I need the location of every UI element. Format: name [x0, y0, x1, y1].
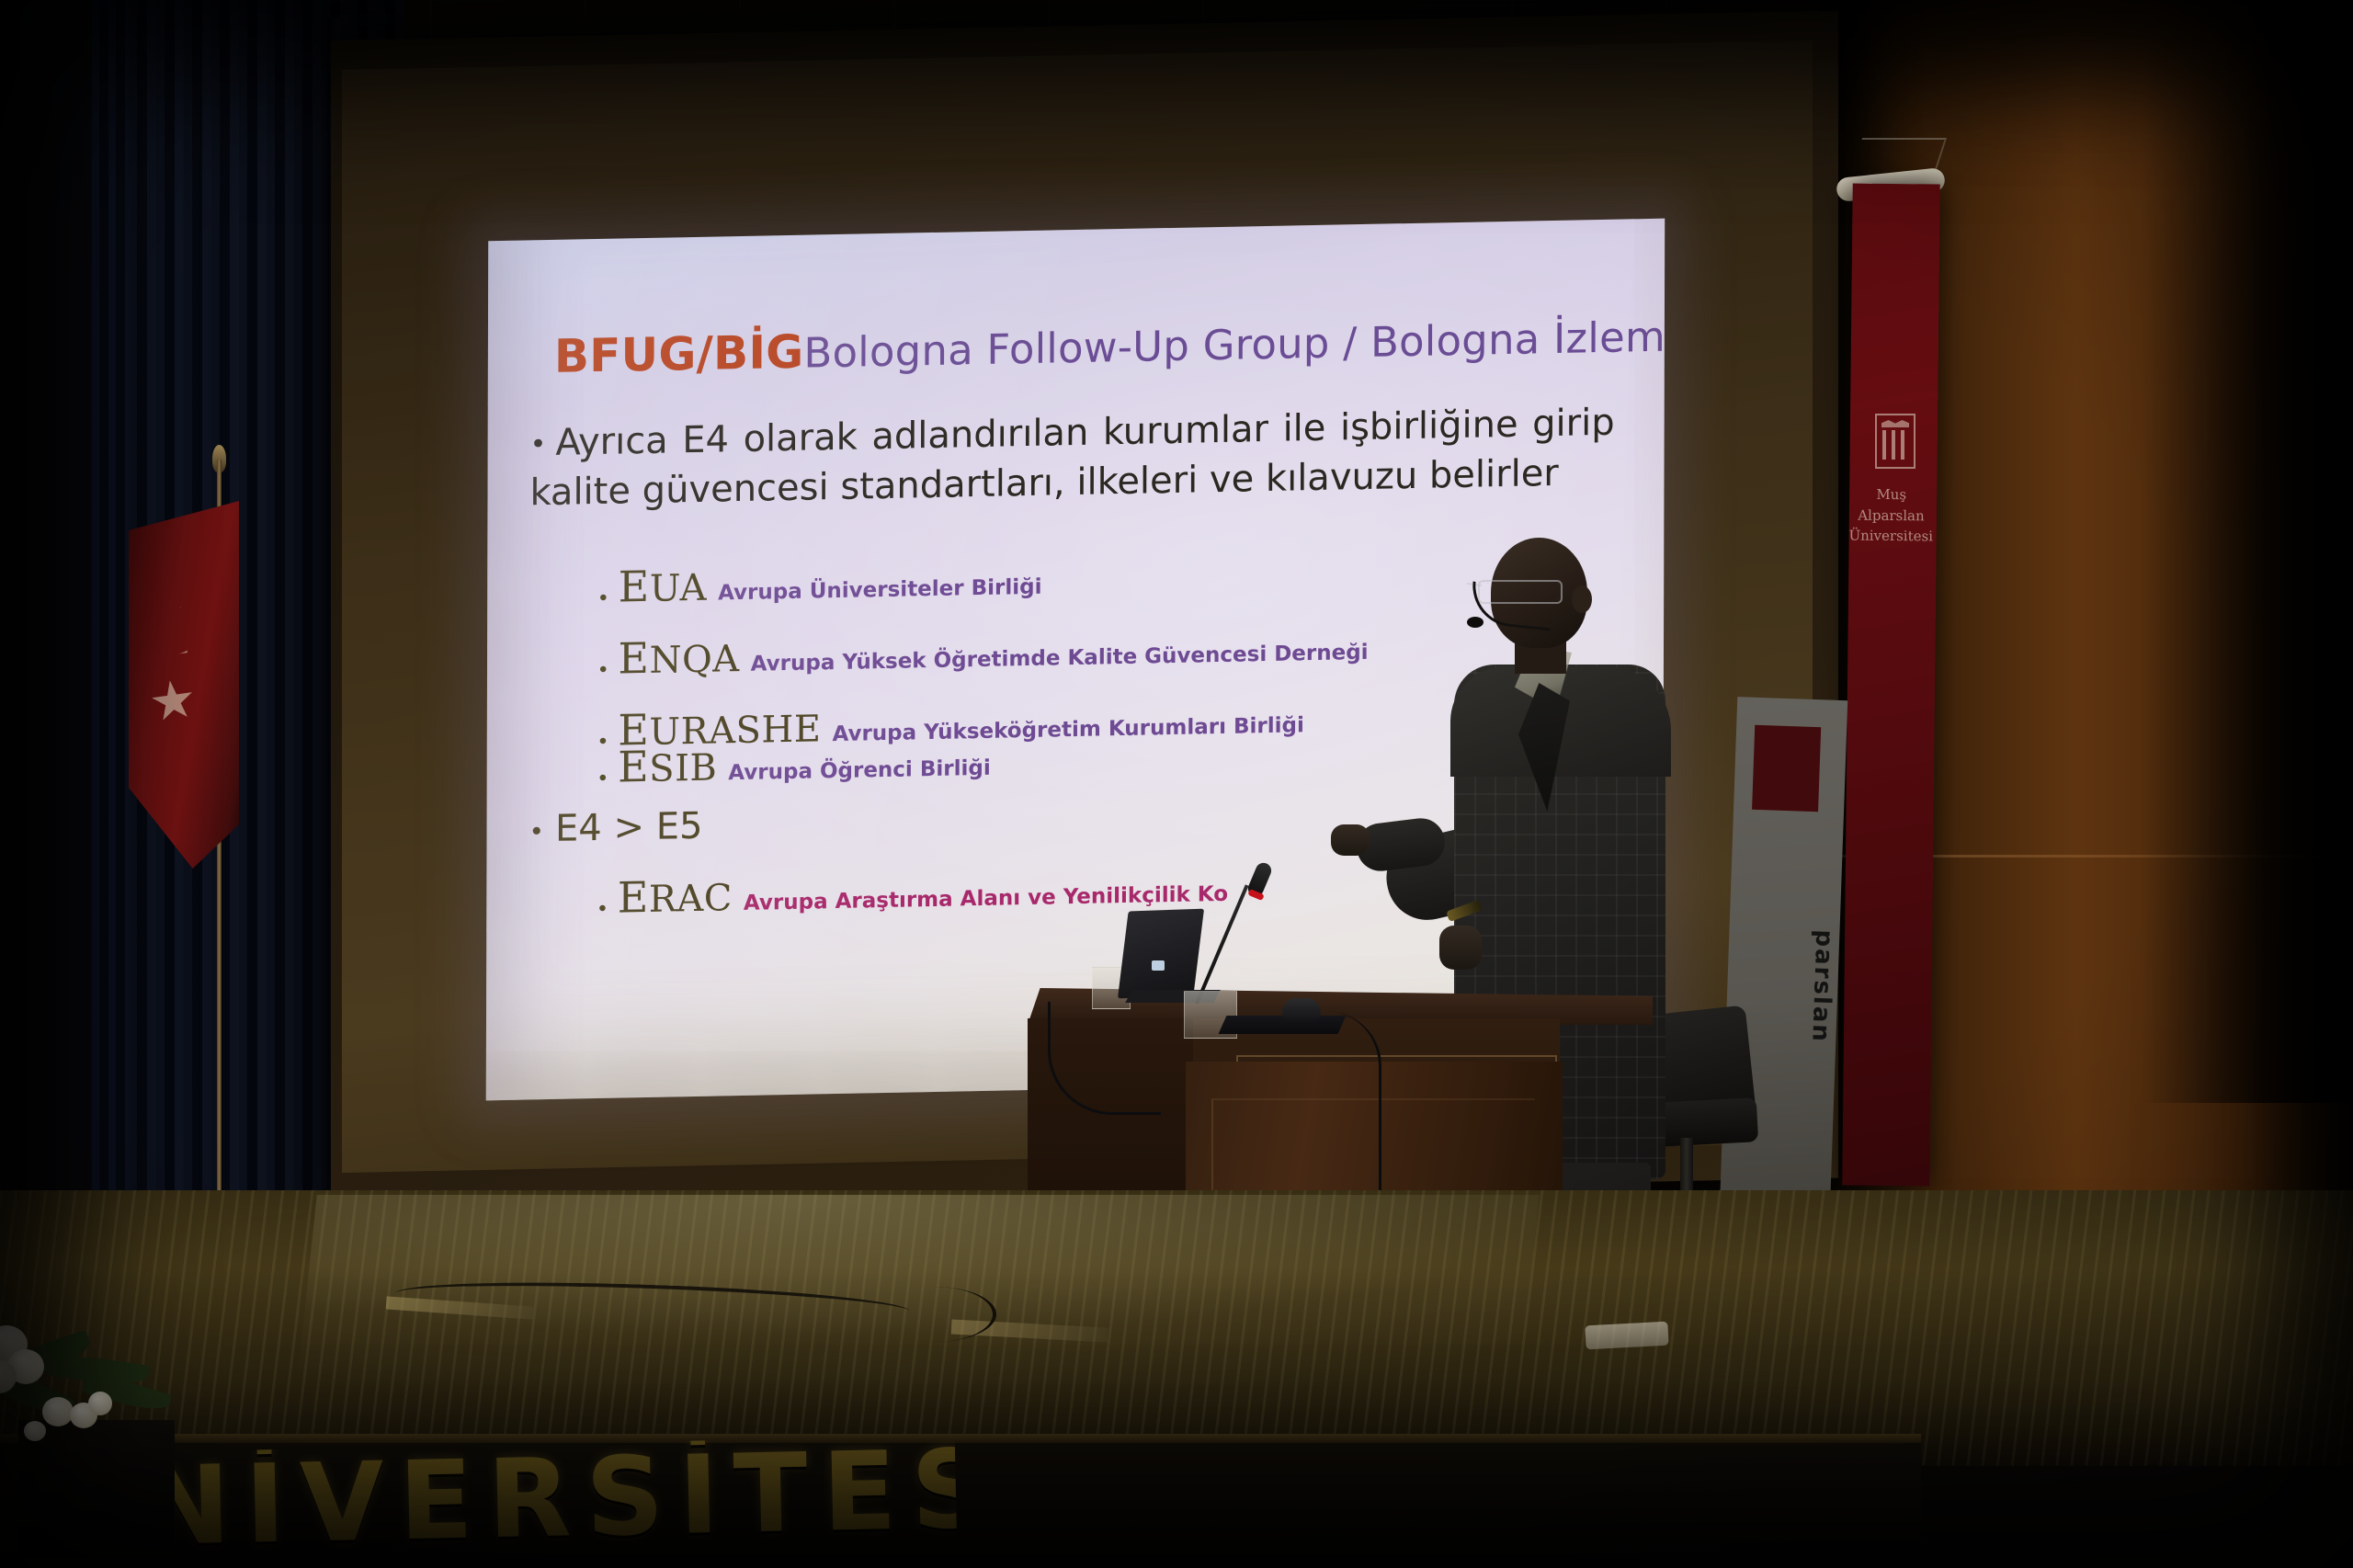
right-shadow: [2142, 0, 2353, 1103]
bullet-marker-icon: •: [599, 657, 607, 682]
university-logo-icon: [1875, 414, 1915, 469]
presenter-hand: [1439, 926, 1482, 970]
acronym-rest: UA: [650, 567, 707, 610]
presenter-pointing-hand: [1331, 824, 1370, 856]
bullet-marker-icon: •: [530, 428, 547, 460]
slide-title-acronym: BFUG/BİG: [554, 325, 804, 383]
slide-transition-text: E4 > E5: [555, 805, 703, 850]
acronym-cap: E: [618, 872, 649, 923]
stage-front-letter: S: [910, 1436, 957, 1545]
stage-front-letter: E: [398, 1446, 474, 1556]
laptop-screen: [1118, 909, 1204, 999]
stage-front-letter: E: [821, 1437, 897, 1547]
stage-front-letter: V: [299, 1448, 385, 1558]
slide-main-bullet: •Ayrıca E4 olarak adlandırılan kurumlar …: [529, 399, 1614, 518]
power-strip: [1585, 1322, 1668, 1350]
presentation-photo: BFUG/BİGBologna Follow-Up Group / Bologn…: [0, 0, 2353, 1568]
bullet-marker-icon: •: [529, 816, 544, 846]
bullet-marker-icon: •: [599, 766, 607, 790]
slide-main-bullet-text: Ayrıca E4 olarak adlandırılan kurumlar i…: [529, 402, 1614, 514]
slide-item-enqa: •ENQAAvrupa Yüksek Öğretimde Kalite Güve…: [599, 619, 1369, 684]
headset-microphone-icon: [1467, 617, 1483, 628]
acronym-rest: SIB: [649, 746, 717, 790]
bullet-marker-icon: •: [599, 585, 607, 610]
acronym-rest: RAC: [649, 877, 733, 921]
stage-front-letter: T: [733, 1438, 809, 1549]
acronym-expansion: Avrupa Üniversiteler Birliği: [718, 575, 1042, 606]
slide-title: BFUG/BİGBologna Follow-Up Group / Bologn…: [554, 305, 1665, 383]
presenter-ear: [1572, 585, 1592, 613]
rollup-banner-red-block: [1752, 725, 1821, 812]
acronym-cap: E: [619, 562, 650, 612]
laptop-logo-icon: [1152, 960, 1165, 971]
slide-item-esib: •ESIBAvrupa Öğrenci Birliği: [599, 735, 991, 792]
university-banner: [1842, 184, 1939, 1187]
stage-front-letter: R: [486, 1443, 572, 1553]
acronym-expansion: Avrupa Yüksek Öğretimde Kalite Güvencesi…: [751, 641, 1369, 676]
acronym-cap: E: [618, 633, 649, 684]
acronym-rest: NQA: [649, 638, 739, 682]
slide-title-expansion: Bologna Follow-Up Group / Bologna İzleme…: [803, 309, 1665, 378]
flower: [88, 1392, 112, 1415]
banner-line-2: Üniversitesi: [1843, 525, 1939, 547]
bullet-marker-icon: •: [598, 896, 606, 921]
acronym-cap: E: [618, 742, 649, 792]
slide-transition-line: •E4 > E5: [529, 805, 702, 851]
slide-item-eua: •EUAAvrupa Üniversiteler Birliği: [599, 554, 1041, 612]
flower: [42, 1397, 74, 1426]
flower: [24, 1421, 46, 1441]
stage-front-letter: S: [585, 1441, 665, 1551]
floral-arrangement: [0, 1305, 257, 1489]
rollup-banner: parslan: [1719, 697, 1848, 1243]
banner-line-1: Muş Alparslan: [1843, 483, 1939, 526]
stage-front-letter: İ: [677, 1440, 720, 1550]
university-banner-text: Muş Alparslan Üniversitesi: [1843, 483, 1940, 547]
floor-cable: [873, 1287, 996, 1342]
acronym-expansion: Avrupa Öğrenci Birliği: [728, 756, 990, 785]
